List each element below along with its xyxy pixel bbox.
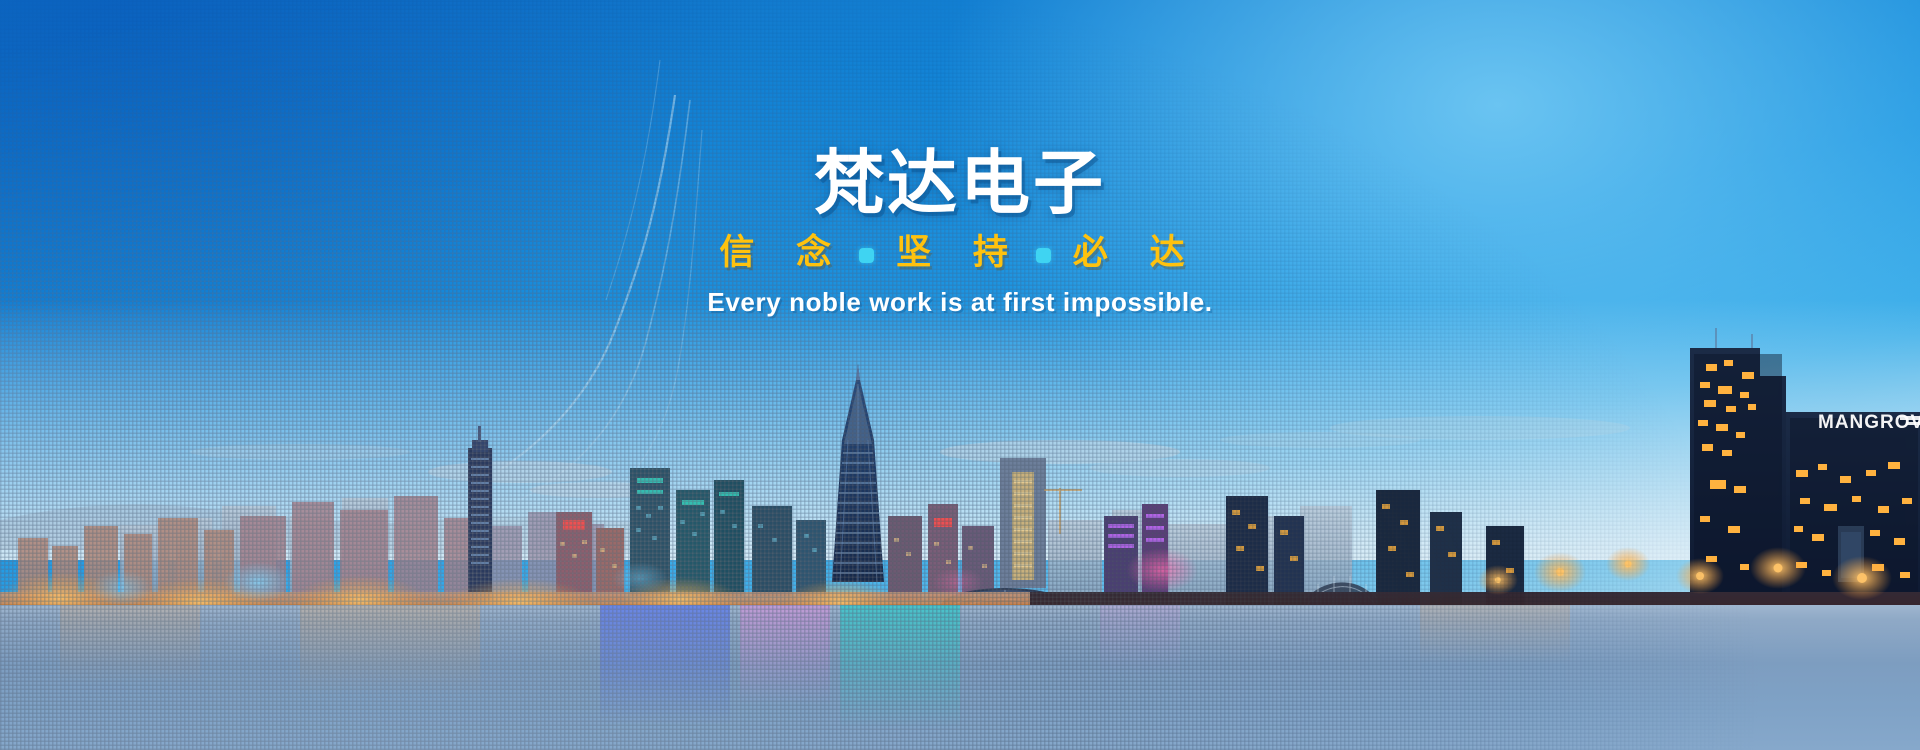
landmark-tower xyxy=(832,364,884,582)
cloud-wisps xyxy=(190,416,1630,498)
antenna-mast xyxy=(1716,328,1752,348)
slim-tower-left xyxy=(468,426,492,600)
hero-banner: MANGROVE xyxy=(0,0,1920,750)
banner-copy: 梵达电子 信 念 坚 持 必 达 Every noble work is at … xyxy=(0,148,1920,318)
slogan-part-3: 必 达 xyxy=(1067,234,1207,273)
english-tagline: Every noble work is at first impossible. xyxy=(0,287,1920,318)
slogan-separator-icon xyxy=(859,248,874,263)
mangrove-sign: MANGROVE xyxy=(1818,412,1920,433)
water-reflections xyxy=(0,605,1920,750)
slogan-separator-icon xyxy=(1036,248,1051,263)
company-name-headline: 梵达电子 xyxy=(0,148,1920,218)
company-slogan: 信 念 坚 持 必 达 xyxy=(0,234,1920,273)
slogan-part-1: 信 念 xyxy=(713,234,853,273)
gold-tower xyxy=(1000,458,1046,588)
slogan-part-2: 坚 持 xyxy=(890,234,1030,273)
